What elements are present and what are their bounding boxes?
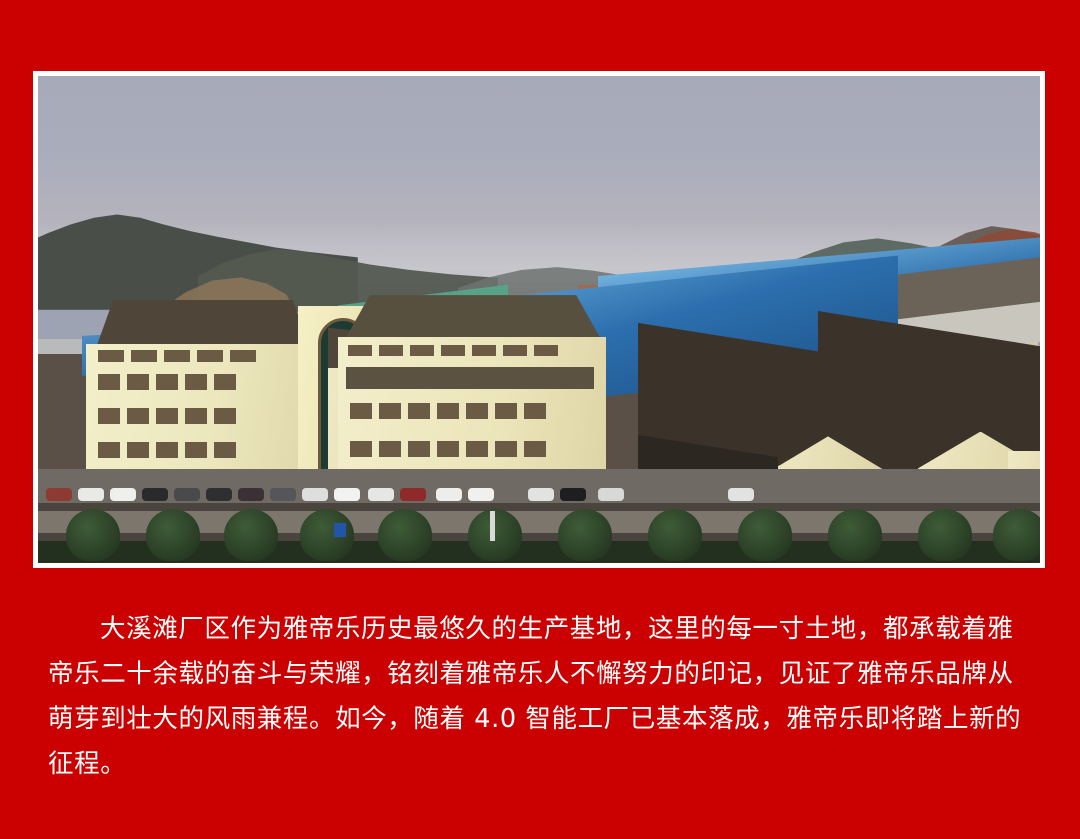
window [164,350,190,362]
roof [344,295,602,341]
tree [993,509,1040,561]
tree [828,509,882,561]
car [528,488,554,501]
road-sign-icon [334,523,346,537]
car [174,488,200,501]
window [408,403,430,419]
window [524,403,546,419]
car [598,488,624,501]
car [206,488,232,501]
window [348,345,372,356]
window [156,408,178,424]
tree [918,509,972,561]
car [270,488,296,501]
window [379,345,403,356]
caption-paragraph: 大溪滩厂区作为雅帝乐历史最悠久的生产基地，这里的每一寸土地，都承载着雅帝乐二十余… [48,607,1038,787]
window [197,350,223,362]
window [98,408,120,424]
window [350,441,372,457]
window [466,403,488,419]
car [468,488,494,501]
window [156,374,178,390]
car [560,488,586,501]
car [110,488,136,501]
window [495,403,517,419]
window [495,441,517,457]
window [98,350,124,362]
window [472,345,496,356]
window [379,441,401,457]
tree [738,509,792,561]
window [534,345,558,356]
window [350,403,372,419]
car [400,488,426,501]
window [214,408,236,424]
car [436,488,462,501]
window [466,441,488,457]
car [46,488,72,501]
window [441,345,465,356]
window [410,345,434,356]
tree [146,509,200,561]
window [437,403,459,419]
tree [224,509,278,561]
window [98,442,120,458]
car [334,488,360,501]
street-lamp-icon [490,511,495,541]
window [503,345,527,356]
tree [558,509,612,561]
window [214,442,236,458]
window [379,403,401,419]
window [524,441,546,457]
tree [66,509,120,561]
tree [468,509,522,561]
car [302,488,328,501]
window [408,441,430,457]
roof [96,300,310,348]
window [185,442,207,458]
window [437,441,459,457]
window [185,374,207,390]
car [368,488,394,501]
window [131,350,157,362]
window [156,442,178,458]
car [728,488,754,501]
window [214,374,236,390]
photo-frame: yadilo 雅帝乐 [33,71,1045,568]
aerial-factory-campus-photo: yadilo 雅帝乐 [38,76,1040,563]
car [142,488,168,501]
corridor-glazing [346,367,594,389]
car [78,488,104,501]
car [238,488,264,501]
window [185,408,207,424]
window [127,442,149,458]
window [230,350,256,362]
window [98,374,120,390]
facade [338,337,606,487]
tree [378,509,432,561]
window [127,408,149,424]
tree [648,509,702,561]
window [127,374,149,390]
poster-root: yadilo 雅帝乐 [0,0,1080,839]
caption-text: 大溪滩厂区作为雅帝乐历史最悠久的生产基地，这里的每一寸土地，都承载着雅帝乐二十余… [48,614,1021,779]
